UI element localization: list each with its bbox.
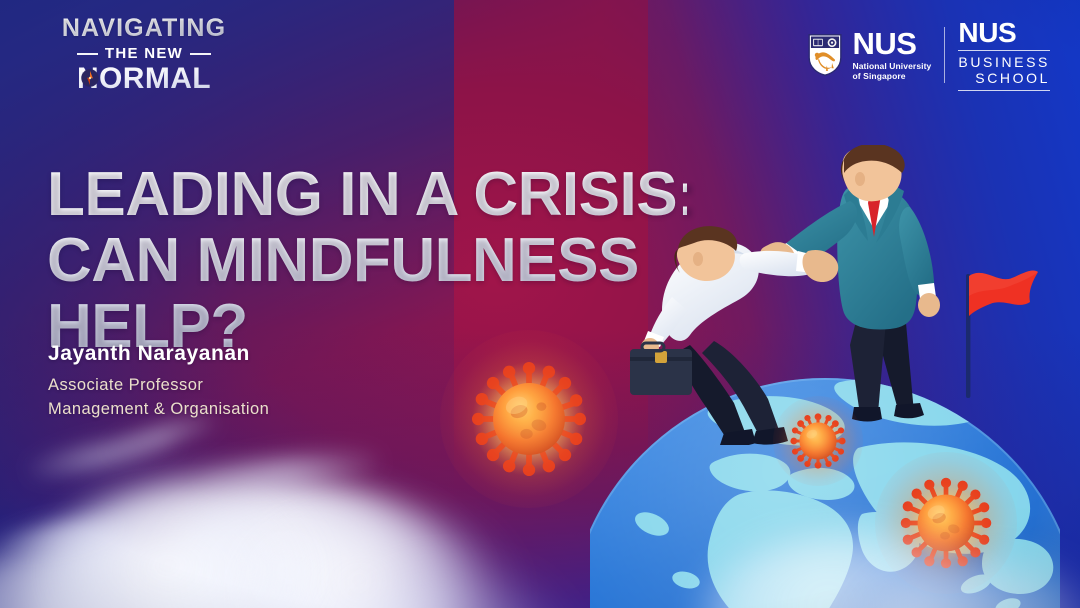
- nus-wordmark-block: NUS National University of Singapore: [852, 30, 931, 81]
- business-school-line-business: BUSINESS: [958, 54, 1050, 71]
- business-school-rule-top: [958, 50, 1050, 51]
- speaker-role: Associate Professor Management & Organis…: [48, 374, 269, 421]
- logo-rule-right: [190, 53, 211, 55]
- business-school-rule-bottom: [958, 90, 1050, 91]
- logo-line-the-new: THE NEW: [44, 46, 244, 61]
- nus-crest-shield-icon: [807, 33, 843, 77]
- compass-needle-icon: [80, 68, 100, 88]
- logo-the-new-text: THE NEW: [105, 46, 183, 61]
- business-school-wordmark: NUS: [958, 20, 1050, 47]
- presentation-slide: NAVIGATING THE NEW NORMAL: [0, 0, 1080, 608]
- logo-line-normal: NORMAL: [44, 64, 244, 94]
- page-title: LEADING IN A CRISIS: CAN MINDFULNESS HEL…: [47, 162, 687, 361]
- speaker-department: Management & Organisation: [48, 398, 269, 421]
- nus-wordmark: NUS: [852, 30, 931, 59]
- nus-full-name-line2: of Singapore: [852, 71, 931, 81]
- nus-full-name: National University of Singapore: [852, 61, 931, 81]
- speaker-name: Jayanth Narayanan: [48, 341, 269, 366]
- speaker-block: Jayanth Narayanan Associate Professor Ma…: [48, 341, 269, 421]
- speaker-title: Associate Professor: [48, 374, 269, 397]
- title-line-1: LEADING IN A CRISIS:: [47, 162, 687, 228]
- nus-university-logo: NUS National University of Singapore: [807, 30, 931, 81]
- logo-line-navigating: NAVIGATING: [44, 16, 244, 41]
- logo-rule-left: [77, 53, 98, 55]
- title-line-2: CAN MINDFULNESS: [47, 228, 687, 294]
- nus-full-name-line1: National University: [852, 61, 931, 71]
- navigating-the-new-normal-logo: NAVIGATING THE NEW NORMAL: [44, 16, 244, 94]
- nus-logo-lockup: NUS National University of Singapore NUS…: [807, 20, 1050, 91]
- nus-business-school-logo: NUS BUSINESS SCHOOL: [958, 20, 1050, 91]
- business-school-line-school: SCHOOL: [958, 70, 1050, 87]
- logo-divider: [944, 27, 945, 83]
